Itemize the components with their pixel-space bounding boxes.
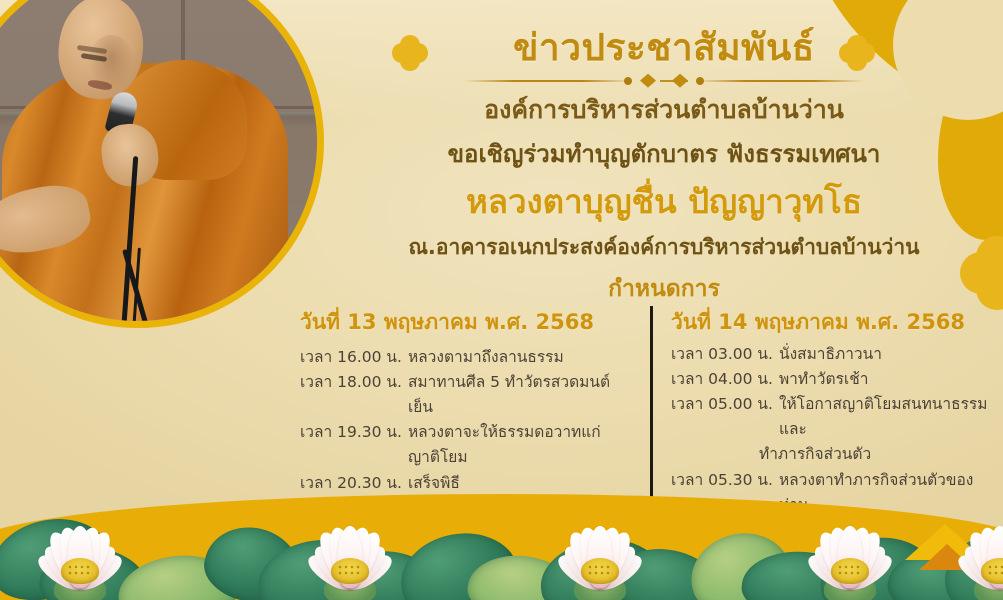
divider-rule-left xyxy=(464,80,632,82)
monk-name: หลวงตาบุญชื่น ปัญญาวุทโธ xyxy=(340,182,988,222)
lotus-flower xyxy=(290,508,410,600)
invitation-line: ขอเชิญร่วมทำบุญตักบาตร ฟังธรรมเทศนา xyxy=(340,139,988,170)
divider-dot xyxy=(624,77,632,85)
schedule-date-day2: วันที่ 14 พฤษภาคม พ.ศ. 2568 xyxy=(671,306,990,339)
schedule-item-time: เวลา 05.00 น. xyxy=(671,392,773,442)
lotus-flower xyxy=(20,508,140,600)
schedule-item-time: เวลา 04.00 น. xyxy=(671,367,773,392)
schedule-item-time: เวลา 03.00 น. xyxy=(671,342,773,367)
schedule-item: เวลา 03.00 น.นั่งสมาธิภาวนา xyxy=(671,342,990,367)
lotus-flower xyxy=(790,508,910,600)
schedule-item-detail: หลวงตามาถึงลานธรรม xyxy=(408,345,564,370)
monk-photo xyxy=(0,0,317,321)
lotus-seedpod xyxy=(61,558,99,584)
schedule-item-time: เวลา 20.30 น. xyxy=(300,471,402,496)
title-divider-ornament xyxy=(464,74,864,88)
lotus-seedpod xyxy=(581,558,619,584)
schedule-item-time: เวลา 16.00 น. xyxy=(300,345,402,370)
lotus-seedpod xyxy=(831,558,869,584)
schedule-item-continuation: ทำภารกิจส่วนตัว xyxy=(671,442,990,467)
quatrefoil-ornament-left xyxy=(393,36,427,70)
header-block: ข่าวประชาสัมพันธ์ องค์การบริหารส่วนตำบลบ… xyxy=(340,26,988,307)
schedule-item: เวลา 04.00 น.พาทำวัตรเช้า xyxy=(671,367,990,392)
lotus-seedpod xyxy=(981,558,1003,584)
schedule-list-day1: เวลา 16.00 น.หลวงตามาถึงลานธรรมเวลา 18.0… xyxy=(300,345,632,496)
schedule-item-detail: เสร็จพิธี xyxy=(408,471,460,496)
schedule-date-day1: วันที่ 13 พฤษภาคม พ.ศ. 2568 xyxy=(300,306,632,339)
organization-name: องค์การบริหารส่วนตำบลบ้านว่าน xyxy=(340,94,988,125)
poster-canvas: ข่าวประชาสัมพันธ์ องค์การบริหารส่วนตำบลบ… xyxy=(0,0,1003,600)
page-title: ข่าวประชาสัมพันธ์ xyxy=(340,26,988,70)
schedule-item: เวลา 19.30 น.หลวงตาจะให้ธรรมดอวาทแก่ญาติ… xyxy=(300,420,632,470)
divider-gem xyxy=(640,74,656,88)
quatrefoil-ornament-edge xyxy=(962,238,1003,308)
schedule-item-detail: หลวงตาจะให้ธรรมดอวาทแก่ญาติโยม xyxy=(408,420,632,470)
schedule-item-detail: นั่งสมาธิภาวนา xyxy=(779,342,882,367)
monk-photo-frame xyxy=(0,0,324,328)
lotus-flower xyxy=(540,508,660,600)
schedule-item-time: เวลา 19.30 น. xyxy=(300,420,402,470)
schedule-item: เวลา 18.00 น.สมาทานศีล 5 ทำวัตรสวดมนต์เย… xyxy=(300,370,632,420)
schedule-item: เวลา 20.30 น.เสร็จพิธี xyxy=(300,471,632,496)
schedule-item: เวลา 05.00 น.ให้โอกาสญาติโยมสนทนาธรรมและ xyxy=(671,392,990,442)
divider-gem xyxy=(672,74,688,88)
lotus-seedpod xyxy=(331,558,369,584)
schedule-item-detail: พาทำวัตรเช้า xyxy=(779,367,868,392)
venue-line: ณ.อาคารอเนกประสงค์องค์การบริหารส่วนตำบลบ… xyxy=(340,234,988,261)
quatrefoil-ornament-right xyxy=(840,36,874,70)
schedule-item-time: เวลา 18.00 น. xyxy=(300,370,402,420)
agenda-heading: กำหนดการ xyxy=(340,271,988,307)
schedule-item: เวลา 16.00 น.หลวงตามาถึงลานธรรม xyxy=(300,345,632,370)
divider-rule-right xyxy=(696,80,864,82)
schedule-item-detail: สมาทานศีล 5 ทำวัตรสวดมนต์เย็น xyxy=(408,370,632,420)
schedule-item-detail: ให้โอกาสญาติโยมสนทนาธรรมและ xyxy=(779,392,990,442)
